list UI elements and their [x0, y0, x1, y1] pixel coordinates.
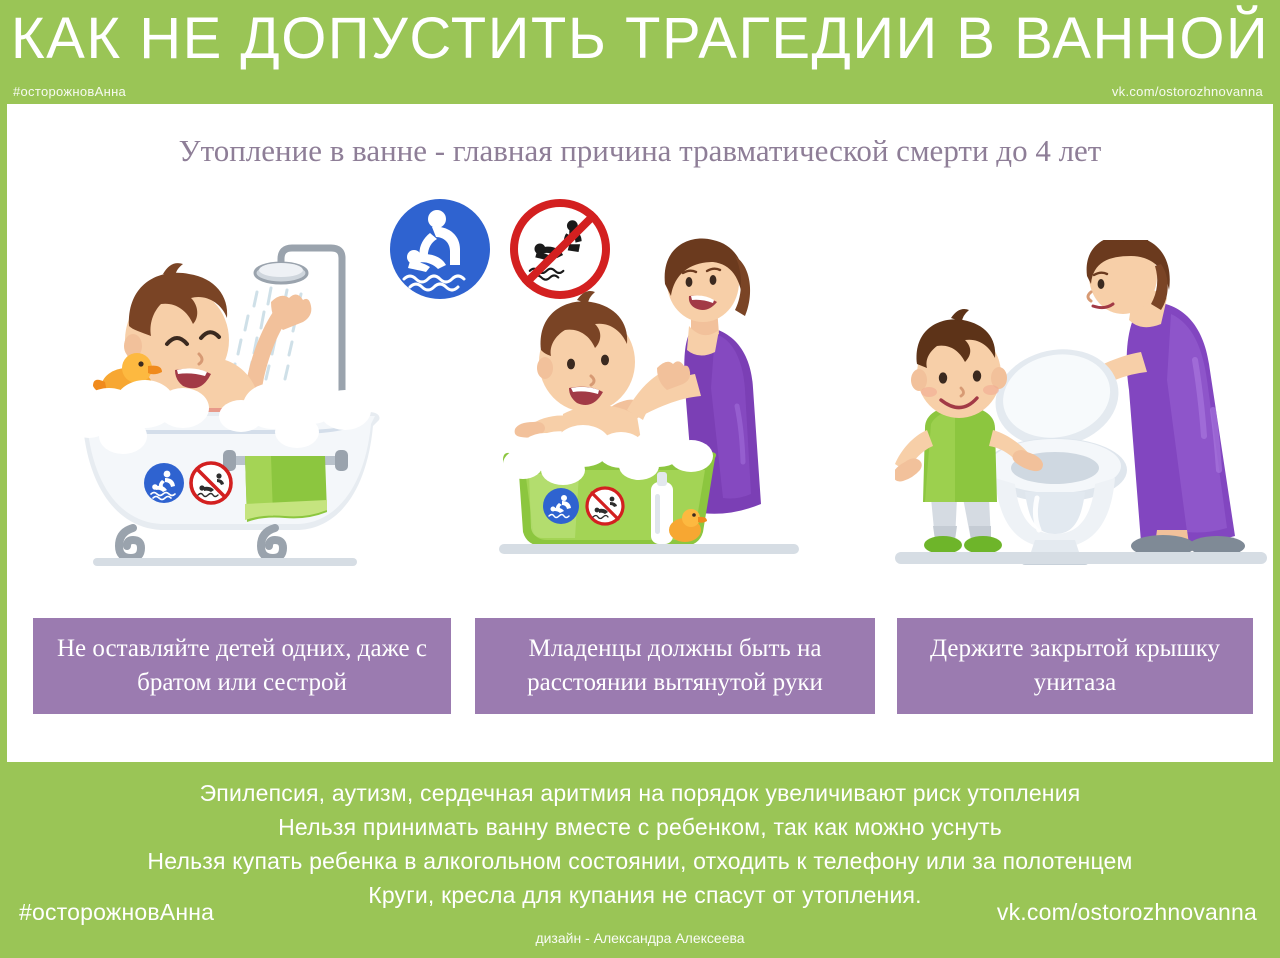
header-vk-link[interactable]: vk.com/ostorozhnovanna	[1112, 84, 1263, 99]
illustration-mother-closing-toilet-lid	[895, 240, 1267, 570]
tub-sticker-prohibition	[191, 463, 231, 503]
subtitle: Утопление в ванне - главная причина трав…	[7, 131, 1273, 171]
footer-line: Нельзя купать ребенка в алкогольном сост…	[7, 844, 1273, 878]
infographic-poster: КАК НЕ ДОПУСТИТЬ ТРАГЕДИИ В ВАННОЙ #осто…	[0, 0, 1280, 958]
header-banner: КАК НЕ ДОПУСТИТЬ ТРАГЕДИИ В ВАННОЙ #осто…	[7, 0, 1273, 104]
caption-text: Держите закрытой крышку унитаза	[909, 632, 1241, 700]
footer-hashtag: #осторожновАнна	[19, 899, 214, 926]
baby-figure	[515, 291, 691, 440]
header-hashtag: #осторожновАнна	[13, 84, 126, 99]
page-title: КАК НЕ ДОПУСТИТЬ ТРАГЕДИИ В ВАННОЙ	[7, 8, 1273, 70]
baby-tub-sticker-prohibition	[587, 488, 623, 524]
illustration-mother-washing-baby	[499, 238, 799, 570]
caption-box-arms-reach: Младенцы должны быть на расстоянии вытян…	[475, 618, 875, 714]
baby-tub-sticker-mandatory	[543, 488, 579, 524]
caption-box-leave-alone: Не оставляйте детей одних, даже с братом…	[33, 618, 451, 714]
caption-box-toilet-lid: Держите закрытой крышку унитаза	[897, 618, 1253, 714]
footer-line: Эпилепсия, аутизм, сердечная аритмия на …	[7, 776, 1273, 810]
footer-advice-list: Эпилепсия, аутизм, сердечная аритмия на …	[7, 776, 1273, 912]
illustration-child-in-bathtub	[49, 240, 399, 570]
tub-sticker-mandatory	[144, 463, 184, 503]
designer-credit: дизайн - Александра Алексеева	[7, 930, 1273, 946]
caption-text: Не оставляйте детей одних, даже с братом…	[45, 632, 439, 700]
footer-line: Нельзя принимать ванну вместе с ребенком…	[7, 810, 1273, 844]
caption-text: Младенцы должны быть на расстоянии вытян…	[487, 632, 863, 700]
footer-vk-link[interactable]: vk.com/ostorozhnovanna	[997, 899, 1257, 926]
supervise-child-in-water-icon	[390, 199, 490, 299]
footer-banner: Эпилепсия, аутизм, сердечная аритмия на …	[7, 762, 1273, 958]
